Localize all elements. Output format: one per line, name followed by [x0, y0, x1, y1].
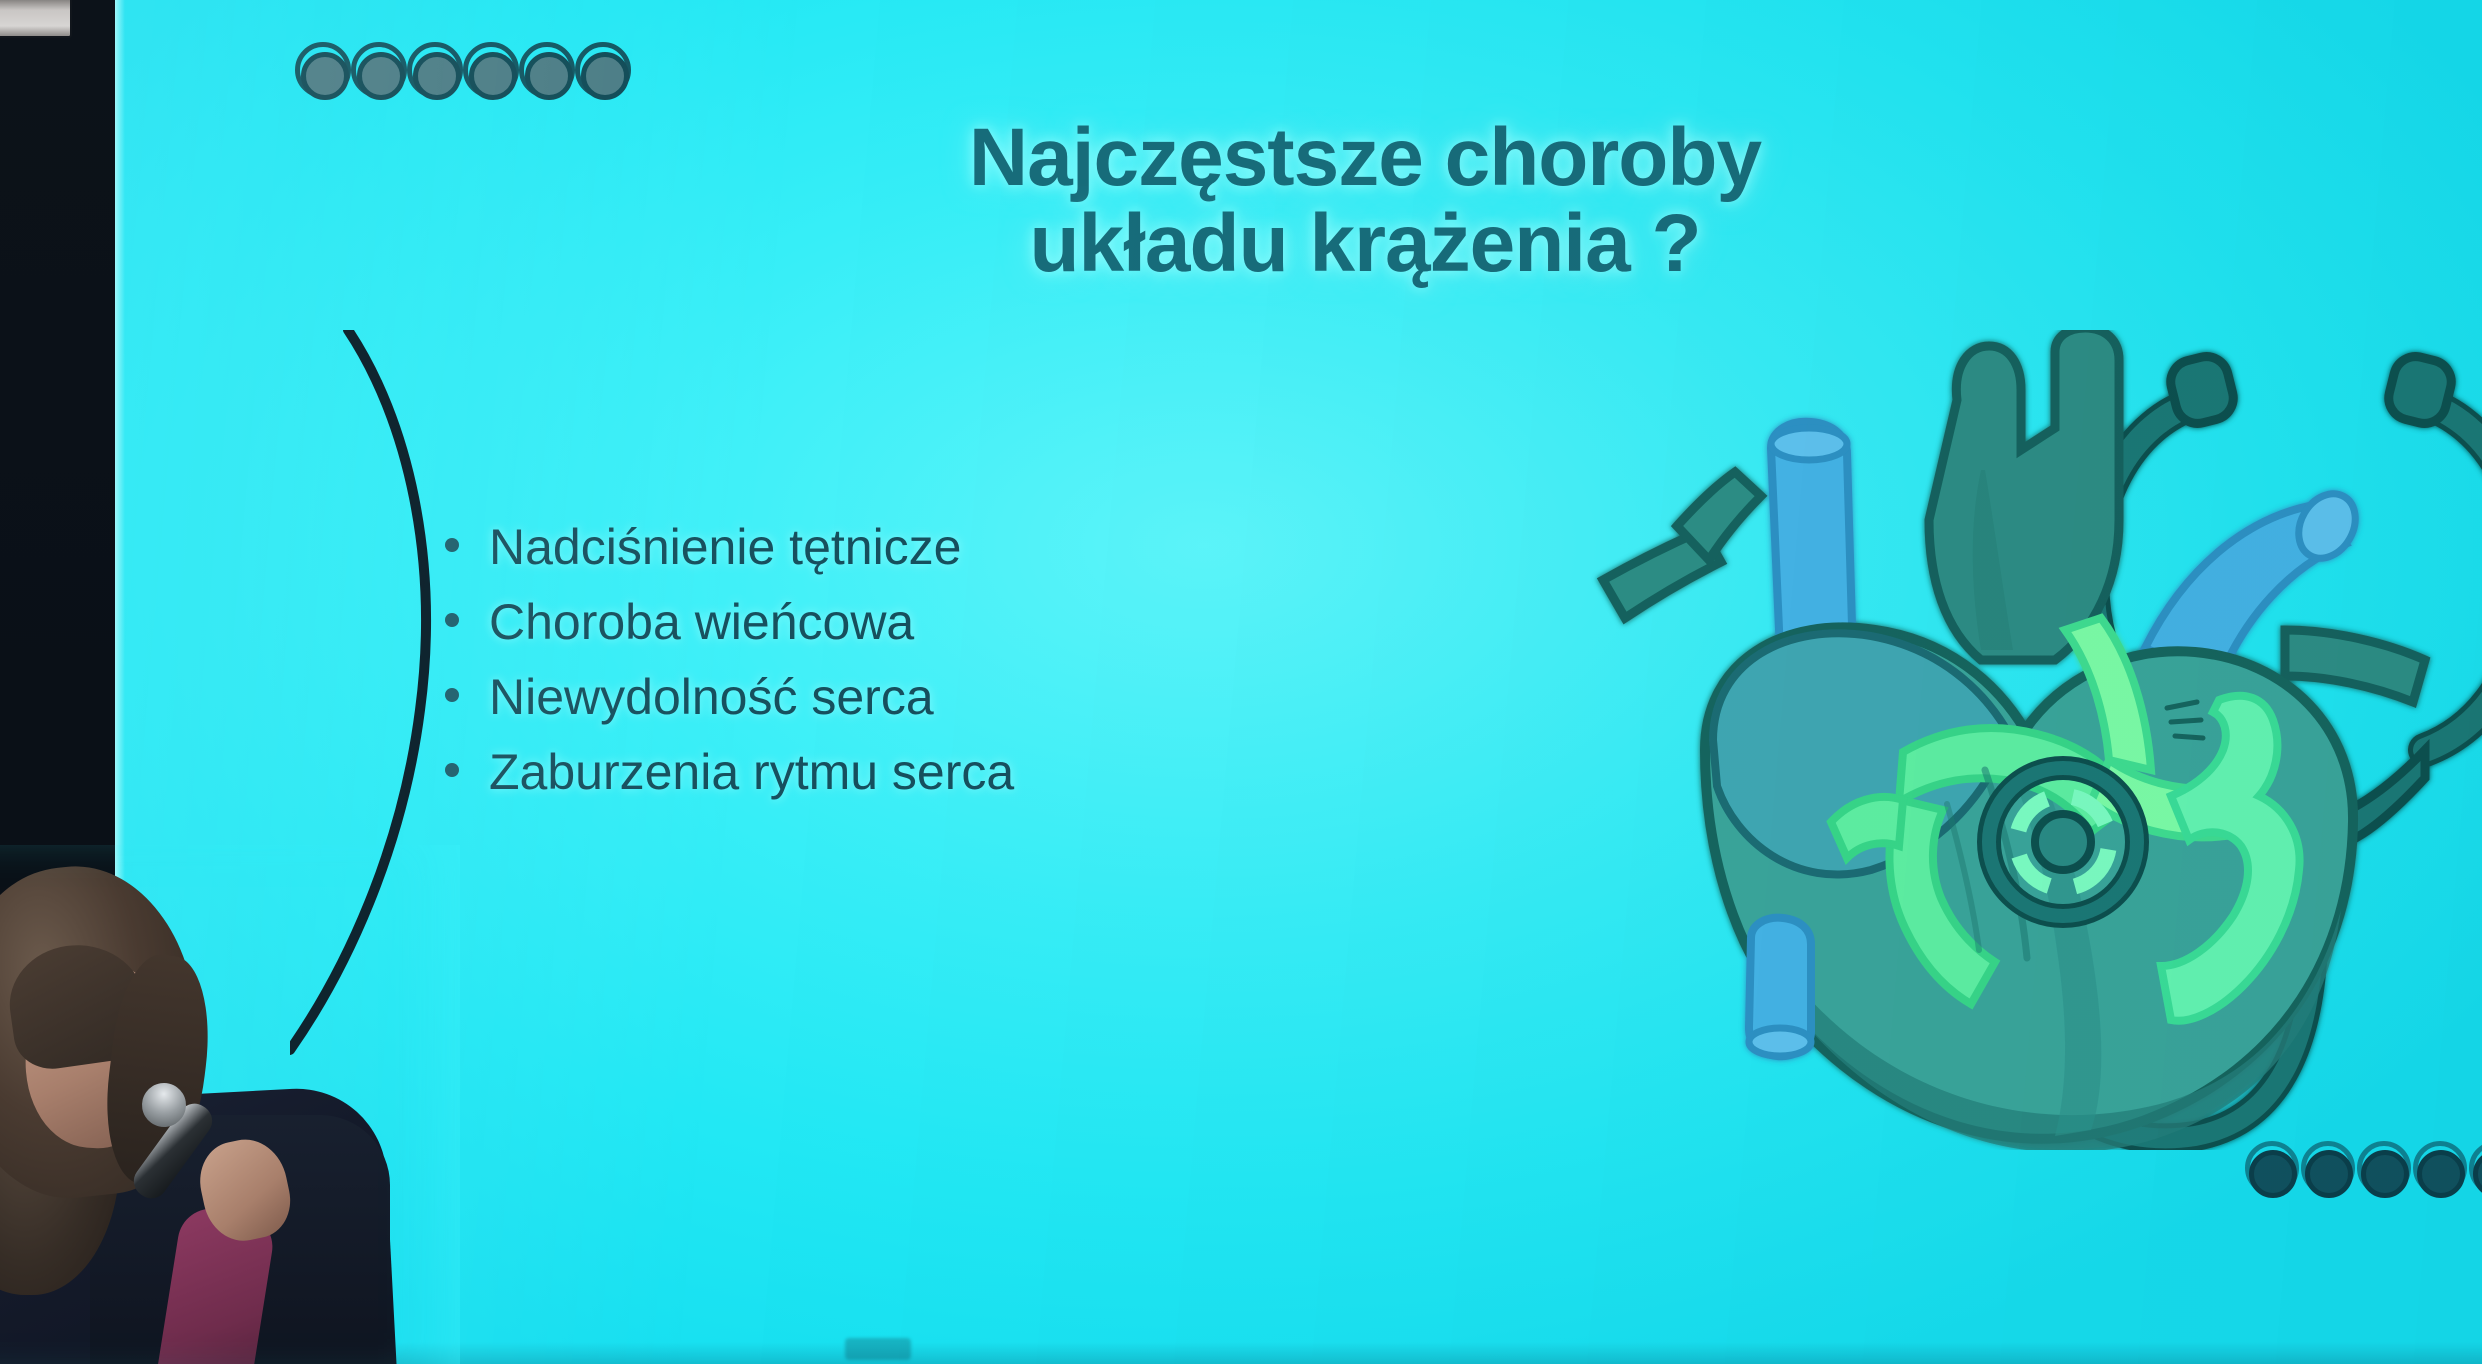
- slide-title: Najczęstsze choroby układu krążenia ?: [745, 115, 1985, 287]
- ceiling-light-strip: [0, 0, 72, 38]
- bullet-point-icon: [445, 613, 459, 627]
- bullet-point-icon: [445, 688, 459, 702]
- presenter-figure: [0, 845, 440, 1364]
- bullet-point-icon: [445, 538, 459, 552]
- heart-with-stethoscope-illustration: [1585, 330, 2482, 1150]
- decorative-dot: [463, 48, 523, 108]
- list-item-label: Niewydolność serca: [489, 668, 934, 727]
- list-item: Choroba wieńcowa: [445, 593, 1345, 652]
- slide-title-line-2: układu krążenia ?: [745, 201, 1985, 287]
- decorative-dot: [575, 48, 635, 108]
- list-item: Niewydolność serca: [445, 668, 1345, 727]
- list-item-label: Zaburzenia rytmu serca: [489, 743, 1014, 802]
- screen-bottom-shadow: [115, 1342, 2482, 1364]
- list-item-label: Nadciśnienie tętnicze: [489, 518, 962, 577]
- decorative-dot: [2411, 1148, 2469, 1206]
- slide-title-line-1: Najczęstsze choroby: [745, 115, 1985, 201]
- slide-bullet-list: Nadciśnienie tętnicze Choroba wieńcowa N…: [445, 518, 1345, 818]
- projection-screen: Najczęstsze choroby układu krążenia ? Na…: [115, 0, 2482, 1364]
- decorative-dot: [2299, 1148, 2357, 1206]
- decorative-dot: [2243, 1148, 2301, 1206]
- list-item: Nadciśnienie tętnicze: [445, 518, 1345, 577]
- decorative-dot: [519, 48, 579, 108]
- decorative-dot: [2355, 1148, 2413, 1206]
- decorative-dot: [2467, 1148, 2482, 1206]
- heart-illustration: [1603, 330, 2425, 1150]
- list-item: Zaburzenia rytmu serca: [445, 743, 1345, 802]
- bullet-point-icon: [445, 763, 459, 777]
- decorative-dot: [295, 48, 355, 108]
- decorative-dot: [351, 48, 411, 108]
- decorative-dot: [407, 48, 467, 108]
- decorative-dots-top-left: [295, 48, 631, 108]
- list-item-label: Choroba wieńcowa: [489, 593, 914, 652]
- screenshot-stage: Najczęstsze choroby układu krążenia ? Na…: [0, 0, 2482, 1364]
- decorative-dots-bottom-right: [2243, 1148, 2482, 1206]
